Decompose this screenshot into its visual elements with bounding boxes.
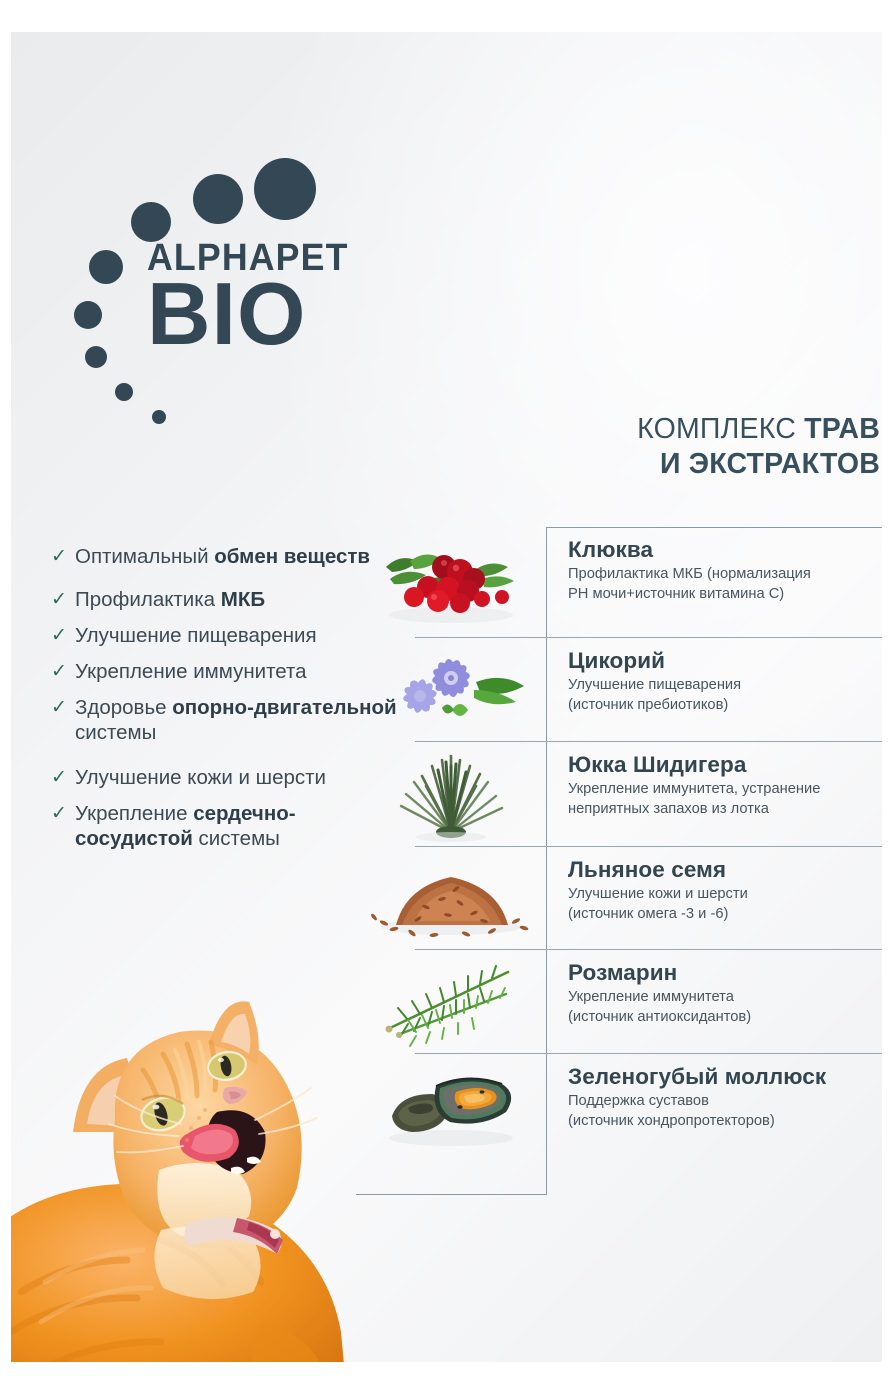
table-row: Розмарин Укрепление иммунитета (источник… <box>356 950 882 1053</box>
section-title: КОМПЛЕКС ТРАВ И ЭКСТРАКТОВ <box>560 412 880 482</box>
ingredient-text-cell: Зеленогубый моллюск Поддержка суставов (… <box>546 1054 882 1194</box>
ingredient-description: Улучшение кожи и шерсти (источник омега … <box>568 885 882 924</box>
ingredient-name: Цикорий <box>568 647 882 674</box>
cat-photo <box>11 992 431 1362</box>
table-row: Льняное семя Улучшение кожи и шерсти (ис… <box>356 847 882 949</box>
ingredient-name: Зеленогубый моллюск <box>568 1063 882 1090</box>
ingredients-table: Клюква Профилактика МКБ (нормализация РН… <box>356 527 882 1195</box>
benefit-label: Улучшение пищеварения <box>75 623 317 648</box>
table-row: Цикорий Улучшение пищеварения (источник … <box>356 638 882 741</box>
table-row: Клюква Профилактика МКБ (нормализация РН… <box>356 527 882 637</box>
chicory-flower-image <box>356 638 546 741</box>
ingredient-text-cell: Розмарин Укрепление иммунитета (источник… <box>546 950 882 1053</box>
ingredient-text-cell: Цикорий Улучшение пищеварения (источник … <box>546 638 882 741</box>
section-title-bold: ТРАВ <box>804 413 880 445</box>
check-icon: ✓ <box>51 587 75 612</box>
ginger-tabby-cat-looking-up <box>11 992 431 1362</box>
ingredient-description: Укрепление иммунитета, устранение неприя… <box>568 780 882 819</box>
ingredient-photo-cell <box>356 527 546 637</box>
section-title-line-1: КОМПЛЕКС ТРАВ <box>560 412 880 447</box>
check-icon: ✓ <box>51 544 75 569</box>
ingredient-name: Льняное семя <box>568 856 882 883</box>
logo-wordmark-bio: BIO <box>147 269 306 359</box>
brand-logo: ALPHAPET BIO <box>66 157 396 447</box>
section-title-line-2: И ЭКСТРАКТОВ <box>560 447 880 482</box>
ingredient-description: Укрепление иммунитета (источник антиокси… <box>568 988 882 1027</box>
flax-seed-image <box>356 847 546 949</box>
yucca-image <box>356 742 546 846</box>
ingredient-photo-cell <box>356 742 546 846</box>
check-icon: ✓ <box>51 659 75 684</box>
ingredient-photo-cell <box>356 847 546 949</box>
benefit-label: Профилактика МКБ <box>75 587 265 612</box>
benefit-label: Оптимальный обмен веществ <box>75 544 370 569</box>
check-icon: ✓ <box>51 695 75 720</box>
ingredient-description: Улучшение пищеварения (источник пребиоти… <box>568 676 882 715</box>
benefit-label: Укрепление иммунитета <box>75 659 307 684</box>
table-row: Юкка Шидигера Укрепление иммунитета, уст… <box>356 742 882 846</box>
ingredient-text-cell: Льняное семя Улучшение кожи и шерсти (ис… <box>546 847 882 949</box>
ingredient-text-cell: Клюква Профилактика МКБ (нормализация РН… <box>546 527 882 637</box>
ingredient-name: Юкка Шидигера <box>568 751 882 778</box>
check-icon: ✓ <box>51 801 75 826</box>
section-title-light: КОМПЛЕКС <box>637 413 804 445</box>
benefit-label: Улучшение кожи и шерсти <box>75 765 326 790</box>
check-icon: ✓ <box>51 623 75 648</box>
table-row: Зеленогубый моллюск Поддержка суставов (… <box>356 1054 882 1194</box>
ingredient-name: Клюква <box>568 536 882 563</box>
ingredient-text-cell: Юкка Шидигера Укрепление иммунитета, уст… <box>546 742 882 846</box>
ingredient-description: Профилактика МКБ (нормализация РН мочи+и… <box>568 565 882 604</box>
ingredient-description: Поддержка суставов (источник хондропроте… <box>568 1092 882 1131</box>
ingredient-name: Розмарин <box>568 959 882 986</box>
ingredient-photo-cell <box>356 638 546 741</box>
check-icon: ✓ <box>51 765 75 790</box>
poster-canvas: ALPHAPET BIO КОМПЛЕКС ТРАВ И ЭКСТРАКТОВ … <box>11 32 882 1362</box>
cranberry-image <box>356 527 546 637</box>
